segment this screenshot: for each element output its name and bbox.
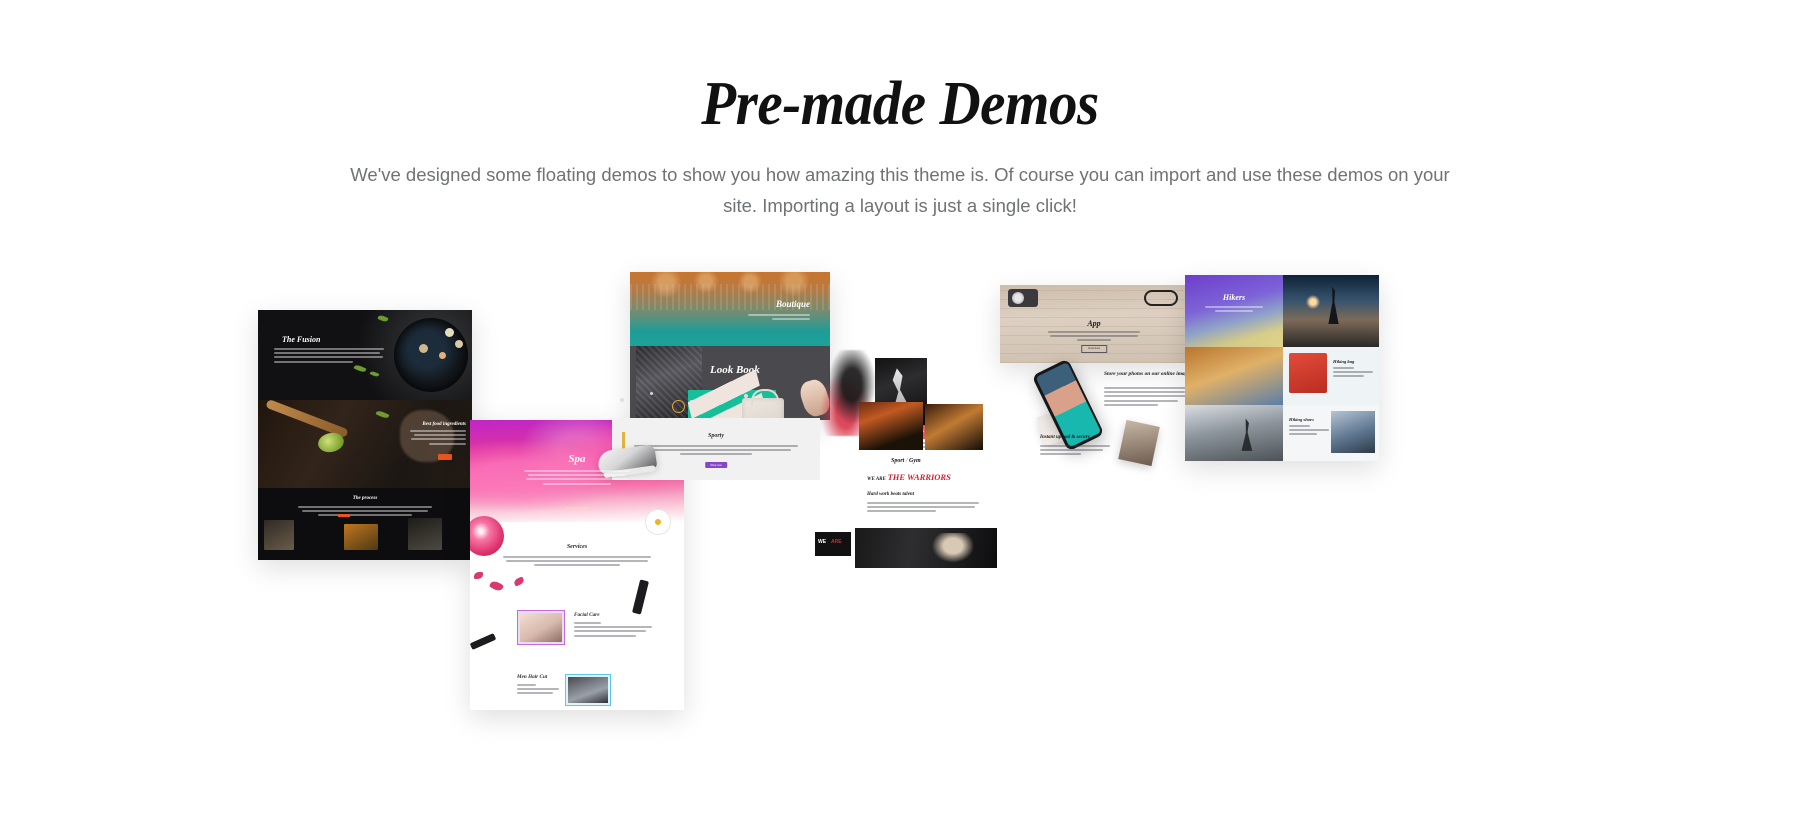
app-hero-copy — [1048, 331, 1140, 344]
spa-cta-button[interactable]: Our services — [470, 496, 684, 514]
boutique-hero: Boutique — [630, 272, 830, 346]
hikers-sun — [1306, 295, 1320, 309]
spa-card-facial[interactable] — [517, 610, 565, 645]
fusion-hero: The Fusion — [258, 310, 472, 400]
hikers-product-card-1[interactable]: Hiking bag — [1283, 347, 1379, 405]
spa-card2-heading: Men Hair Cut — [517, 674, 547, 680]
hikers-screenshot-hero[interactable]: Hikers — [1185, 275, 1379, 347]
sporty-confetti-3 — [690, 400, 693, 403]
warriors-gym-photo-1 — [859, 402, 923, 450]
hikers-photo-canyon — [1185, 347, 1283, 405]
app-section3-heading: Instant upload & secure — [1040, 435, 1090, 440]
warriors-gym-photo-2 — [925, 404, 983, 450]
spa-heading: Spa — [470, 453, 684, 465]
sporty-confetti-4 — [744, 394, 748, 398]
warriors-badge-we: WE — [818, 539, 826, 545]
hikers-card1-heading: Hiking bag — [1333, 359, 1354, 364]
app-section3-copy — [1040, 445, 1110, 458]
sporty-confetti-2 — [650, 392, 653, 395]
fusion-lower-section: The process — [258, 488, 472, 560]
demo-thumbnail-fusion[interactable]: The Fusion Best food ingredients — [258, 310, 472, 560]
spa-body: Services Facial Care Me — [470, 522, 684, 710]
hikers-screenshot-body[interactable]: Hiking bag Hiking shoes — [1185, 347, 1379, 461]
spa-services-heading: Services — [470, 544, 684, 550]
page-subtitle: We've designed some floating demos to sh… — [345, 159, 1455, 221]
hikers-photo-hiker — [1185, 405, 1283, 461]
sporty-cta-button[interactable]: Shop now — [705, 462, 727, 468]
page-title: Pre-made Demos — [72, 72, 1728, 137]
hikers-hero-sub — [1205, 306, 1263, 314]
demo-thumbnail-spa[interactable]: Spa Our services Services — [470, 420, 684, 710]
spa-services-copy — [503, 556, 651, 569]
fusion-mid-section: Best food ingredients — [258, 400, 472, 488]
fusion-bowl-image — [394, 318, 468, 392]
warriors-sport-gym-label: Sport / Gym — [891, 458, 921, 464]
warriors-subheading: Hard work beats talent — [867, 492, 914, 497]
fusion-leaf-4 — [376, 409, 390, 419]
app-camera-image — [1008, 289, 1038, 307]
spa-card1-copy — [574, 622, 652, 639]
spa-card-haircut[interactable] — [565, 674, 611, 706]
fusion-accent-bar — [338, 514, 350, 517]
hikers-card2-copy — [1289, 425, 1329, 438]
warriors-badge-are: ARE — [831, 539, 842, 545]
demo-thumbnail-hikers[interactable]: Hikers Hiking bag — [1185, 275, 1400, 535]
fusion-photo-2 — [344, 524, 378, 550]
section-header: Pre-made Demos We've designed some float… — [0, 0, 1800, 221]
fusion-food-3 — [439, 352, 446, 359]
demo-collage: The Fusion Best food ingredients — [0, 240, 1800, 700]
page-root: Pre-made Demos We've designed some float… — [0, 0, 1800, 819]
fusion-food-2 — [455, 340, 463, 348]
fusion-photo-3 — [408, 518, 442, 550]
app-glasses-image — [1144, 290, 1178, 306]
hikers-card1-copy — [1333, 367, 1373, 380]
hikers-product-card-2[interactable]: Hiking shoes — [1283, 405, 1379, 461]
warriors-title: WE ARE THE WARRIORS — [867, 472, 951, 482]
fusion-cta-button[interactable] — [438, 454, 452, 460]
hikers-mountain-image — [1331, 411, 1375, 453]
fusion-section3-copy — [298, 506, 432, 519]
fusion-section2-heading: Best food ingredients — [422, 422, 466, 427]
sporty-confetti-1 — [620, 398, 624, 402]
app-card-2 — [1118, 420, 1160, 466]
app-section2-copy — [1104, 387, 1188, 408]
fusion-screenshot[interactable]: The Fusion Best food ingredients — [258, 310, 472, 560]
warriors-body-copy — [867, 502, 979, 515]
fusion-food-4 — [419, 344, 428, 353]
app-heading: App — [1000, 319, 1188, 328]
boutique-hero-sub — [748, 314, 810, 322]
hikers-card2-heading: Hiking shoes — [1289, 417, 1314, 422]
fusion-hero-copy — [274, 348, 384, 365]
app-screenshot[interactable]: App Download — [1000, 285, 1188, 363]
fusion-photo-1 — [264, 520, 294, 550]
app-download-button[interactable]: Download — [1081, 345, 1107, 353]
boutique-heading: Boutique — [776, 299, 810, 309]
fusion-leaf-3 — [370, 370, 380, 377]
fusion-heading: The Fusion — [282, 335, 320, 344]
spa-card2-copy — [517, 684, 559, 697]
fusion-section3-heading: The process — [258, 496, 472, 501]
fusion-section2-copy — [410, 430, 466, 447]
hikers-heading: Hikers — [1185, 293, 1283, 302]
hikers-bag-image — [1289, 353, 1327, 393]
spa-hero-copy — [524, 470, 630, 487]
hikers-hero-left: Hikers — [1185, 275, 1283, 347]
sporty-heading: Sporty — [612, 433, 820, 439]
fusion-leaf-1 — [377, 314, 388, 323]
spa-card1-heading: Facial Care — [574, 612, 600, 618]
hikers-hero-photo — [1283, 275, 1379, 347]
fusion-food-1 — [445, 328, 454, 337]
spa-screenshot[interactable]: Spa Our services Services — [470, 420, 684, 710]
app-hero: App Download — [1000, 285, 1188, 363]
warriors-dark-banner — [855, 528, 997, 568]
warriors-we-are-badge: WE ARE — [815, 532, 851, 556]
fusion-leaf-2 — [354, 364, 367, 374]
